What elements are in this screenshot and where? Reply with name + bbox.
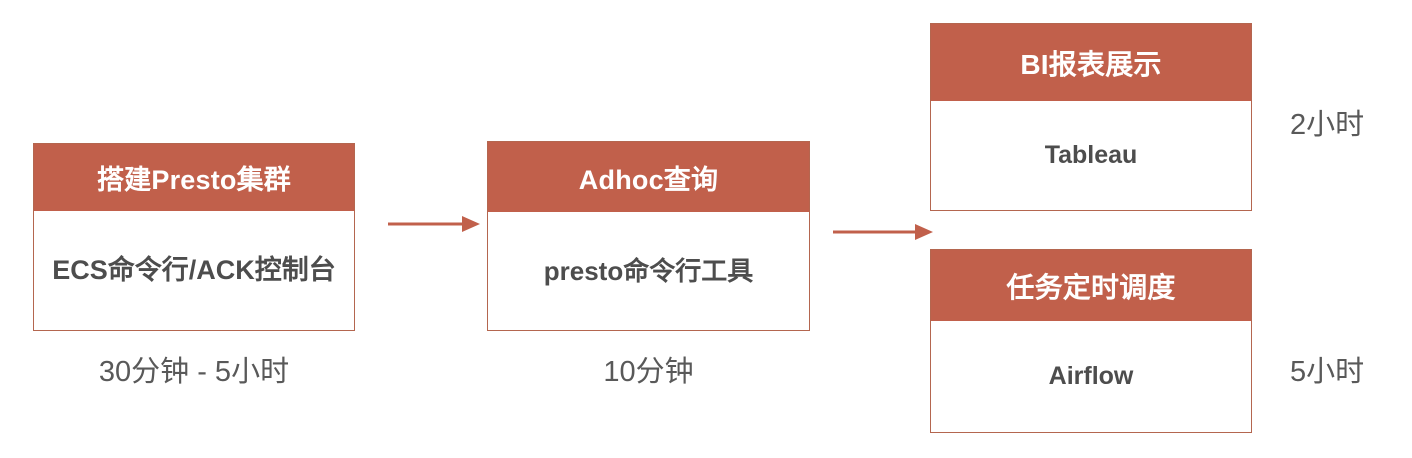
process-card-bi-duration: 2小时 — [1290, 101, 1364, 143]
process-card-adhoc-duration: 10分钟 — [487, 348, 810, 390]
diagram-canvas: 搭建Presto集群 ECS命令行/ACK控制台 30分钟 - 5小时 Adho… — [0, 0, 1412, 458]
process-card-presto[interactable]: 搭建Presto集群 ECS命令行/ACK控制台 — [33, 143, 355, 331]
process-card-presto-body: ECS命令行/ACK控制台 — [34, 211, 354, 330]
process-card-schedule-duration: 5小时 — [1290, 348, 1364, 390]
process-card-adhoc-body: presto命令行工具 — [488, 212, 809, 330]
process-card-adhoc[interactable]: Adhoc查询 presto命令行工具 — [487, 141, 810, 331]
arrow-adhoc-to-bi — [833, 216, 933, 248]
process-card-adhoc-title: Adhoc查询 — [488, 142, 809, 212]
process-card-schedule-title: 任务定时调度 — [931, 250, 1251, 321]
process-card-bi-body: Tableau — [931, 101, 1251, 210]
arrow-presto-to-adhoc — [388, 208, 480, 240]
process-card-schedule[interactable]: 任务定时调度 Airflow — [930, 249, 1252, 433]
process-card-presto-duration: 30分钟 - 5小时 — [33, 348, 355, 390]
process-card-bi-title: BI报表展示 — [931, 24, 1251, 101]
process-card-bi[interactable]: BI报表展示 Tableau — [930, 23, 1252, 211]
process-card-presto-title: 搭建Presto集群 — [34, 144, 354, 211]
process-card-schedule-body: Airflow — [931, 321, 1251, 432]
